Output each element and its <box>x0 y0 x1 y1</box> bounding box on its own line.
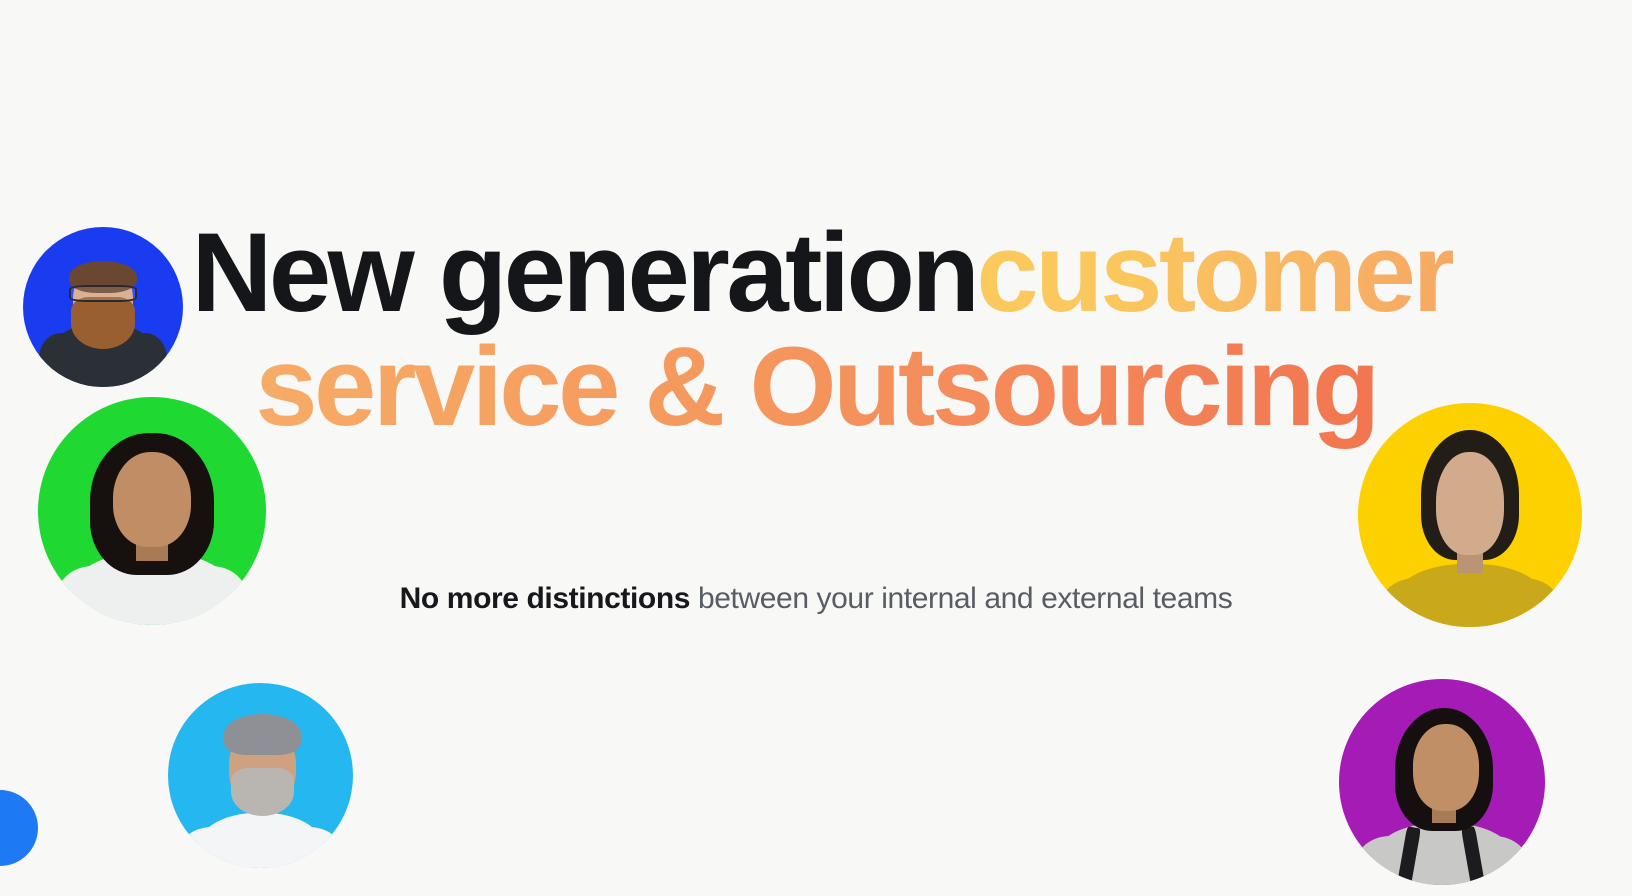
avatar-partial-circle <box>0 790 38 866</box>
headline-dark-text: New generation <box>191 210 976 335</box>
subtitle-strong-text: No more distinctions <box>400 582 690 615</box>
headline-accent-service-outsourcing: service & Outsourcing <box>255 324 1377 449</box>
hero-section: New generationcustomer service & Outsour… <box>0 0 1632 896</box>
torso <box>198 813 324 869</box>
head <box>1413 724 1479 811</box>
headline-accent-customer: customer <box>976 210 1452 335</box>
avatar-photo <box>1339 679 1545 885</box>
beard <box>71 297 135 348</box>
avatar-photo <box>23 227 183 387</box>
avatar-smiling-woman-backpack <box>1339 679 1545 885</box>
avatar-smiling-woman-white-shirt <box>38 397 266 625</box>
torso <box>1394 564 1546 627</box>
torso <box>1372 823 1516 885</box>
subtitle-light-text: between your internal and external teams <box>690 582 1232 615</box>
avatar-photo <box>168 683 353 868</box>
avatar-photo <box>38 397 266 625</box>
avatar-smiling-grey-haired-man <box>168 683 353 868</box>
head <box>113 452 191 548</box>
glasses-icon <box>69 285 136 303</box>
avatar-woman-mustard-shirt <box>1358 403 1582 627</box>
head <box>1436 452 1503 555</box>
avatar-bearded-man-glasses <box>23 227 183 387</box>
avatar-photo <box>1358 403 1582 627</box>
headline-line-1: New generationcustomer <box>0 218 1632 328</box>
beard <box>231 768 294 816</box>
hair <box>224 714 302 755</box>
